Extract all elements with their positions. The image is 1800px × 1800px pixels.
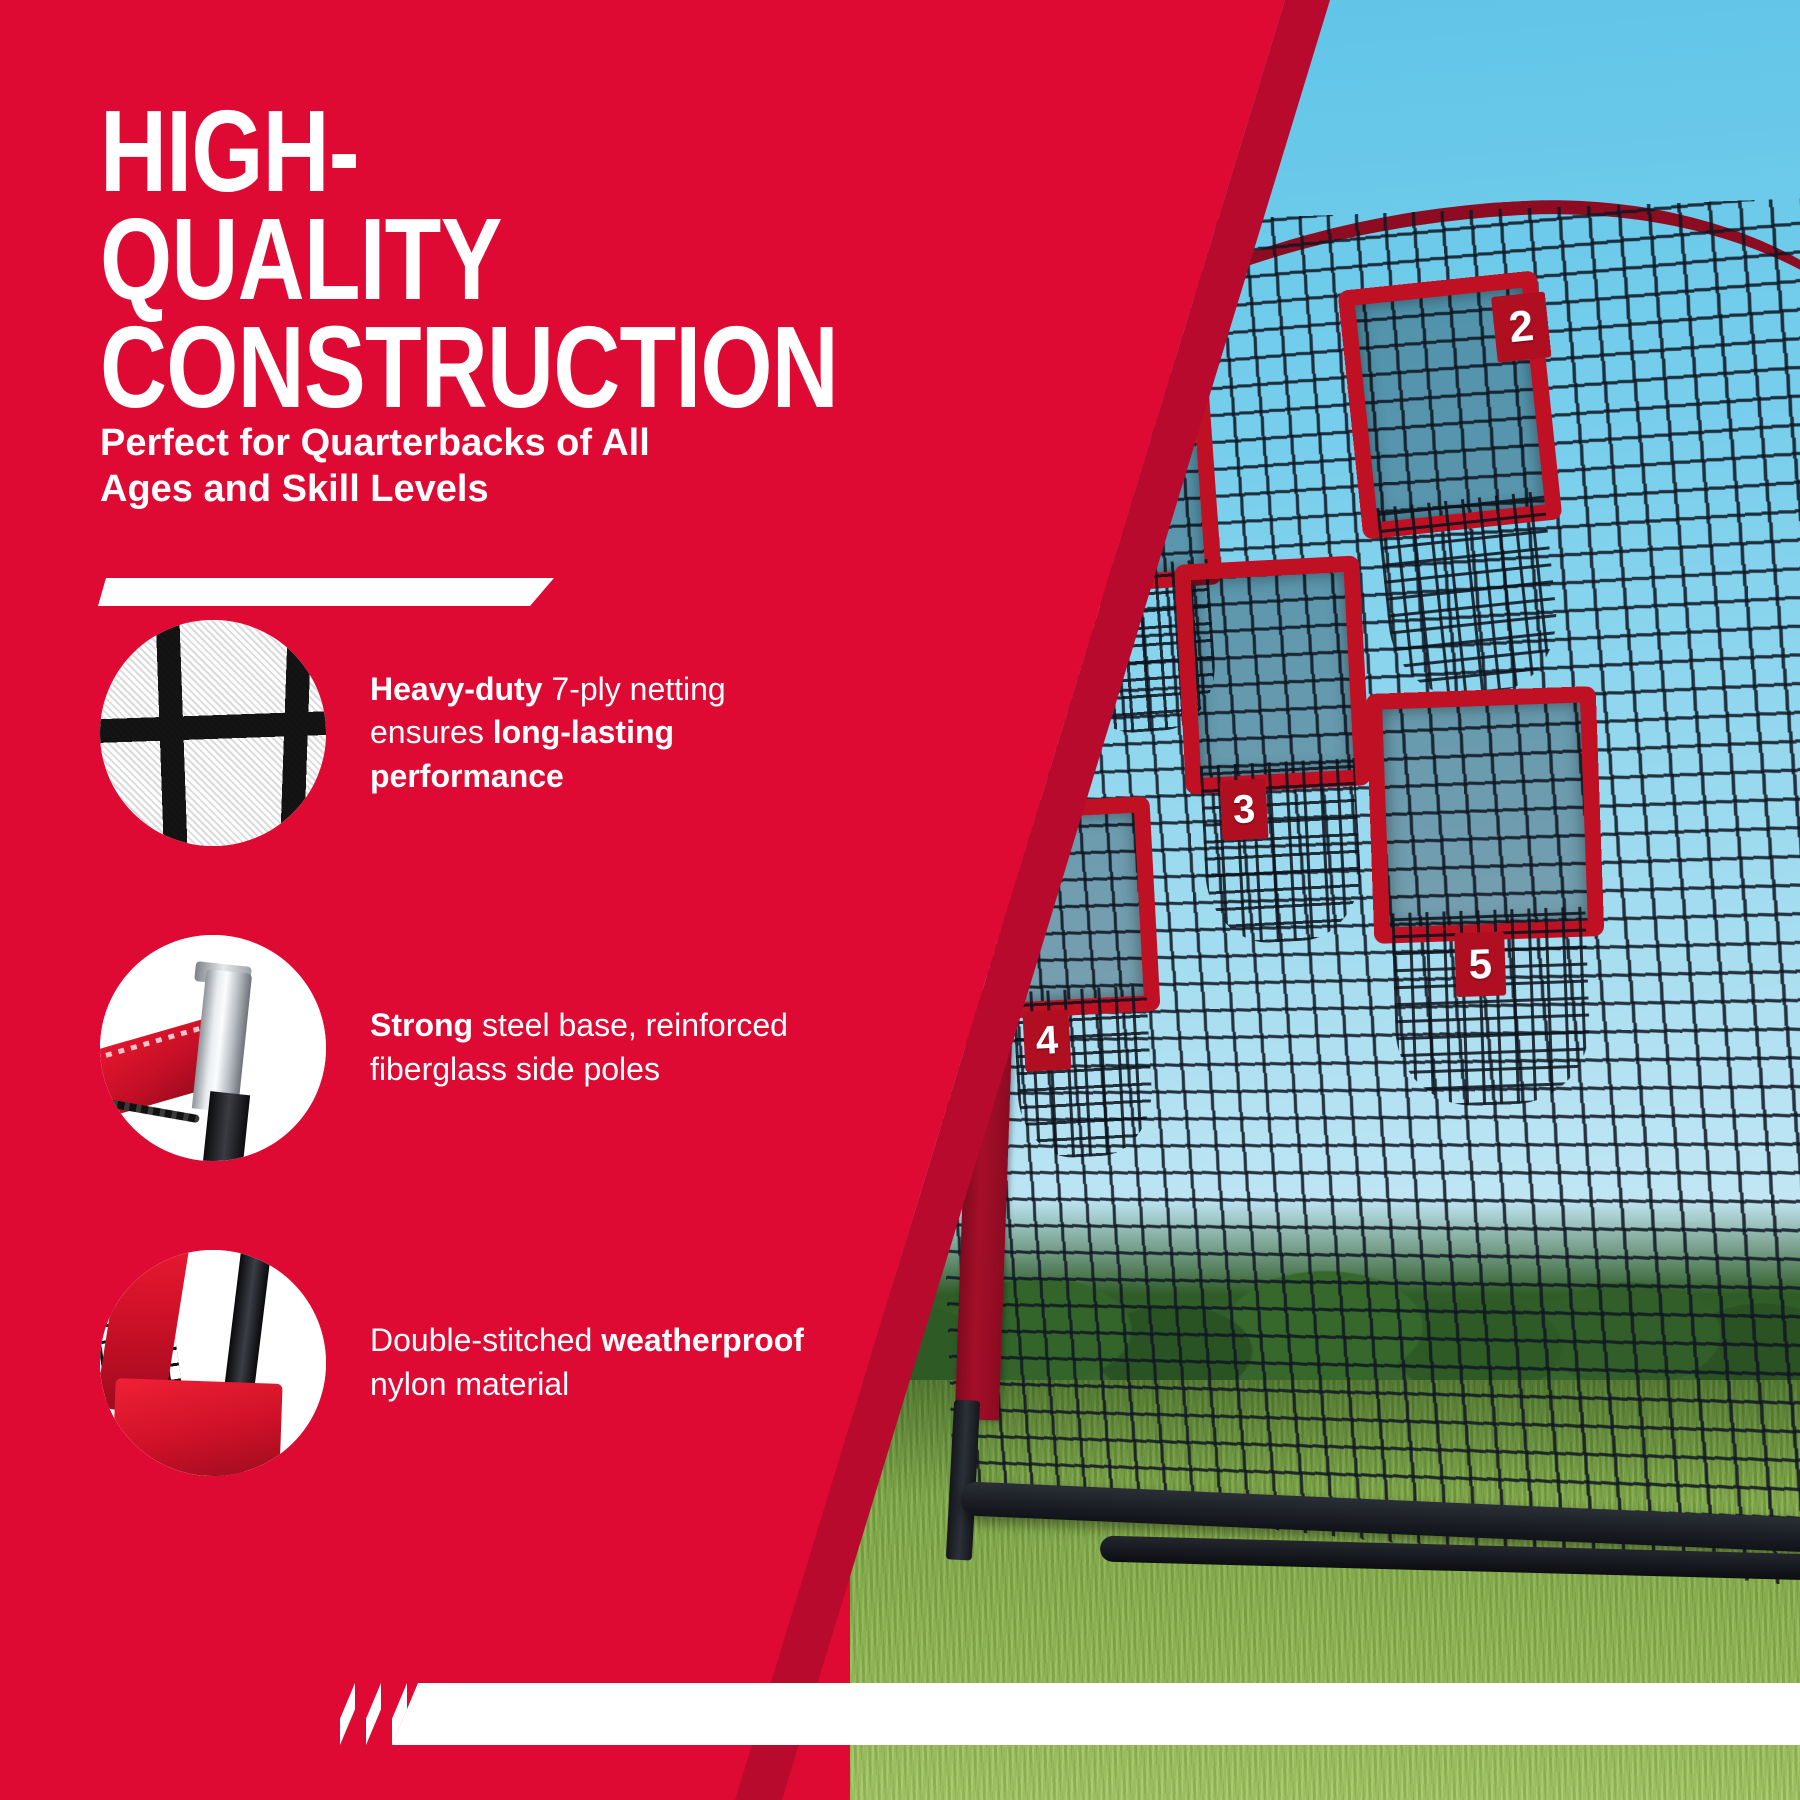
nylon-pocket-closeup-photo bbox=[100, 1250, 326, 1476]
steel-pole-closeup-photo bbox=[100, 935, 326, 1161]
feature-text-nylon: Double-stitched weatherproof nylon mater… bbox=[370, 1319, 840, 1406]
target-pocket-3: 3 bbox=[1174, 555, 1371, 794]
emphasis-text: Heavy-duty bbox=[370, 671, 543, 707]
feature-text-netting: Heavy-duty 7-ply netting ensures long-la… bbox=[370, 668, 840, 799]
pocket-number: 3 bbox=[1219, 779, 1268, 841]
target-pocket-2: 2 bbox=[1337, 270, 1562, 540]
pocket-frame bbox=[1366, 686, 1605, 944]
body-text: nylon material bbox=[370, 1366, 569, 1402]
pocket-number: 4 bbox=[1022, 1009, 1071, 1071]
accent-stripe bbox=[366, 1683, 381, 1745]
product-infographic: 2 1 3 5 4 SPORT NETS bbox=[0, 0, 1800, 1800]
page-title: High-Quality Construction bbox=[100, 98, 692, 422]
emphasis-text: Strong bbox=[370, 1007, 473, 1043]
feature-row-nylon: Double-stitched weatherproof nylon mater… bbox=[100, 1250, 860, 1476]
steel-pole-graphic bbox=[100, 935, 326, 1161]
pocket-number: 5 bbox=[1454, 931, 1506, 997]
accent-stripe bbox=[340, 1683, 355, 1745]
feature-text-steel-base: Strong steel base, reinforced fiberglass… bbox=[370, 1004, 840, 1091]
fiberglass-pole bbox=[202, 1091, 250, 1161]
nylon-pocket-graphic bbox=[100, 1250, 326, 1476]
netting-closeup-photo bbox=[100, 620, 326, 846]
title-divider bbox=[98, 578, 554, 606]
netting-mesh-graphic bbox=[100, 620, 326, 846]
target-pocket-5: 5 bbox=[1366, 686, 1605, 944]
content-column: High-Quality Construction Perfect for Qu… bbox=[0, 0, 900, 1800]
headline-line-2: Construction bbox=[100, 314, 692, 422]
headline-line-1: High-Quality bbox=[100, 98, 692, 314]
page-subtitle: Perfect for Quarterbacks of All Ages and… bbox=[100, 420, 740, 513]
bottom-bar bbox=[392, 1683, 1800, 1745]
emphasis-text: weatherproof bbox=[601, 1322, 804, 1358]
feature-row-netting: Heavy-duty 7-ply netting ensures long-la… bbox=[100, 620, 860, 846]
body-text: Double-stitched bbox=[370, 1322, 601, 1358]
pocket-number: 2 bbox=[1491, 291, 1552, 362]
feature-row-steel-base: Strong steel base, reinforced fiberglass… bbox=[100, 935, 860, 1161]
red-pouch bbox=[112, 1378, 282, 1476]
